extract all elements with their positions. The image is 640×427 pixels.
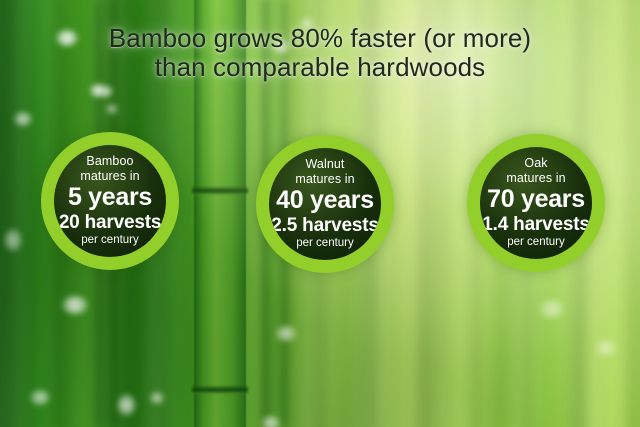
stat-circle-walnut: Walnut matures in 40 years 2.5 harvests … (256, 135, 394, 273)
stat-years-value: 70 years (487, 186, 585, 214)
stat-per-century-label: per century (296, 237, 354, 251)
bokeh-highlight (30, 390, 50, 405)
bokeh-highlight (262, 416, 280, 427)
bokeh-highlight (276, 326, 296, 341)
infographic-canvas: Bamboo grows 80% faster (or more) than c… (0, 0, 640, 427)
stat-circle-inner: Oak matures in 70 years 1.4 harvests per… (480, 147, 592, 259)
bokeh-highlight (596, 340, 616, 356)
stat-species-label: Oak (524, 156, 547, 171)
stat-harvests-value: 2.5 harvests (271, 215, 378, 236)
stat-harvests-value: 20 harvests (59, 212, 161, 233)
bokeh-highlight (62, 296, 88, 314)
stat-per-century-label: per century (81, 234, 139, 248)
stat-circle-inner: Bamboo matures in 5 years 20 harvests pe… (54, 145, 166, 257)
stat-years-value: 5 years (68, 184, 152, 212)
bokeh-highlight (5, 228, 21, 252)
bokeh-highlight (106, 104, 118, 114)
stat-species-label: Walnut (305, 157, 344, 172)
stat-per-century-label: per century (507, 236, 565, 250)
headline-line-2: than comparable hardwoods (0, 53, 640, 82)
headline: Bamboo grows 80% faster (or more) than c… (0, 24, 640, 82)
bokeh-highlight (540, 300, 564, 318)
stat-circle-oak: Oak matures in 70 years 1.4 harvests per… (467, 134, 605, 272)
bokeh-highlight (150, 392, 164, 404)
headline-line-1: Bamboo grows 80% faster (or more) (109, 23, 531, 53)
stat-species-label: Bamboo (86, 154, 133, 169)
stat-circle-inner: Walnut matures in 40 years 2.5 harvests … (269, 148, 381, 260)
stat-years-value: 40 years (276, 187, 374, 215)
stat-matures-label: matures in (295, 172, 354, 187)
stat-matures-label: matures in (506, 171, 565, 186)
bokeh-highlight (14, 112, 32, 126)
stat-harvests-value: 1.4 harvests (482, 214, 589, 235)
stat-matures-label: matures in (80, 169, 139, 184)
bokeh-highlight (100, 86, 113, 97)
stat-circle-bamboo: Bamboo matures in 5 years 20 harvests pe… (41, 132, 179, 270)
bokeh-highlight (118, 394, 135, 416)
